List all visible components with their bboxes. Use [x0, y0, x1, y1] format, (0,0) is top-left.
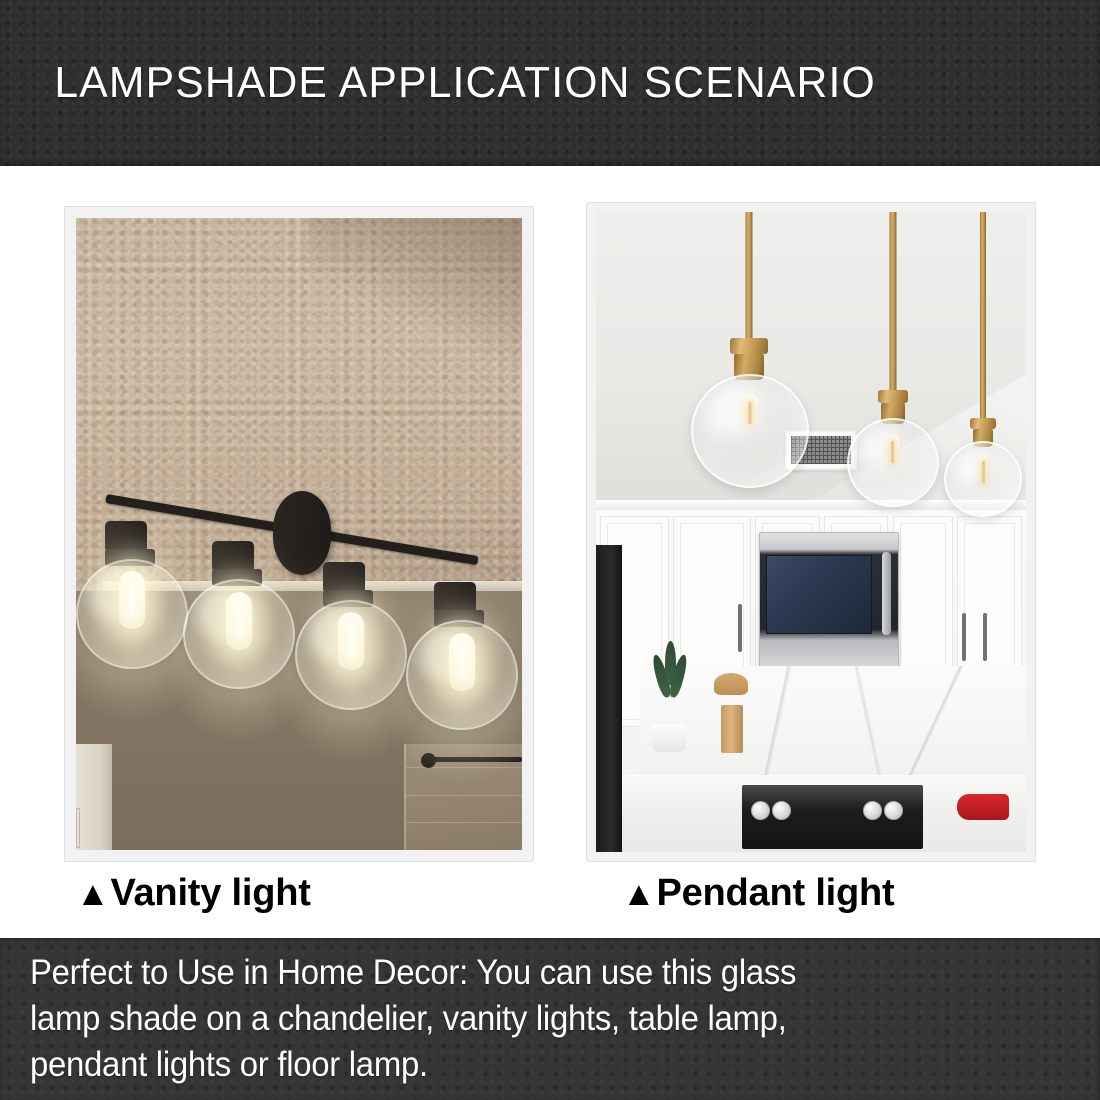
door-frame [76, 744, 112, 850]
pendant-light-2 [845, 212, 940, 507]
glass-globe-shade [944, 441, 1022, 517]
pendant-rod [980, 212, 986, 418]
vanity-light-fixture [85, 471, 513, 699]
shower-tile-area [404, 744, 522, 850]
glass-globe-shade [183, 579, 295, 689]
light-bulb [119, 571, 145, 629]
vanity-lamp-2 [183, 541, 281, 689]
pendant-light-label-text: Pendant light [656, 872, 894, 914]
ceiling-corner [308, 218, 522, 382]
microwave [759, 532, 899, 668]
bulb-filament [348, 625, 353, 657]
towel-bar-knob [421, 753, 436, 768]
header-bar: LAMPSHADE APPLICATION SCENARIO [0, 0, 1100, 166]
socket-cap [323, 562, 365, 592]
socket-cap [434, 582, 476, 612]
pendant-canopy [730, 338, 768, 354]
utensil-holder [721, 705, 743, 753]
product-infographic: LAMPSHADE APPLICATION SCENARIO [0, 0, 1100, 1100]
light-bulb [742, 394, 758, 428]
light-bulb [226, 592, 252, 650]
door-panel [76, 808, 80, 848]
socket-cap [212, 541, 254, 571]
towel-bar [427, 757, 522, 762]
pendant-photo [596, 212, 1026, 852]
glass-globe-shade [76, 559, 188, 669]
footer-bar: Perfect to Use in Home Decor: You can us… [0, 938, 1100, 1100]
triangle-icon: ▲ [622, 875, 655, 913]
refrigerator-edge [596, 545, 622, 852]
bulb-filament [891, 441, 894, 463]
caption-row: ▲Vanity light ▲Pendant light [0, 872, 1100, 938]
glass-globe-shade [691, 374, 809, 488]
vanity-lamp-1 [76, 521, 174, 669]
light-bulb [338, 612, 364, 670]
kitchen-scene [596, 212, 1026, 852]
vanity-photo [76, 218, 522, 850]
range-knob [884, 801, 903, 820]
triangle-icon: ▲ [76, 875, 109, 913]
pendant-light-3 [940, 212, 1026, 517]
pendant-light-1 [691, 212, 807, 488]
pendant-canopy [970, 418, 996, 429]
glass-globe-shade [406, 620, 518, 730]
pendant-canopy [878, 390, 908, 403]
socket-cap [105, 521, 147, 551]
pendant-photo-frame [586, 202, 1036, 862]
range-knob [751, 801, 770, 820]
vanity-light-label: ▲Vanity light [76, 872, 1100, 896]
bulb-filament [748, 402, 751, 424]
microwave-handle [882, 552, 891, 635]
light-bulb [886, 434, 899, 462]
light-bulb [978, 455, 989, 479]
bulb-filament [460, 646, 465, 678]
marble-backsplash [639, 666, 1026, 775]
vanity-lamp-3 [295, 562, 393, 710]
marble-veining [639, 666, 1026, 775]
cabinet-handle [962, 613, 966, 661]
page-title: LAMPSHADE APPLICATION SCENARIO [0, 58, 876, 108]
bulb-filament [130, 584, 135, 616]
footer-description: Perfect to Use in Home Decor: You can us… [30, 950, 1011, 1088]
plant-pot [652, 724, 686, 752]
microwave-window [766, 555, 873, 635]
cabinet-handle [738, 604, 742, 652]
vanity-light-label-text: Vanity light [110, 872, 310, 914]
range-knob [772, 801, 791, 820]
pendant-rod [745, 212, 752, 338]
light-bulb [449, 633, 475, 691]
bulb-filament [982, 461, 985, 483]
glass-globe-shade [847, 418, 939, 507]
photo-row [0, 166, 1100, 878]
pendant-light-label: ▲Pendant light [622, 872, 895, 915]
utensils [714, 673, 748, 695]
vanity-lamp-4 [406, 582, 504, 730]
glass-globe-shade [295, 600, 407, 710]
bulb-filament [237, 605, 242, 637]
cabinet-handle [983, 613, 987, 661]
vanity-photo-frame [64, 206, 534, 862]
pendant-rod [889, 212, 896, 390]
range-knob [863, 801, 882, 820]
oven-mitt [957, 794, 1009, 820]
